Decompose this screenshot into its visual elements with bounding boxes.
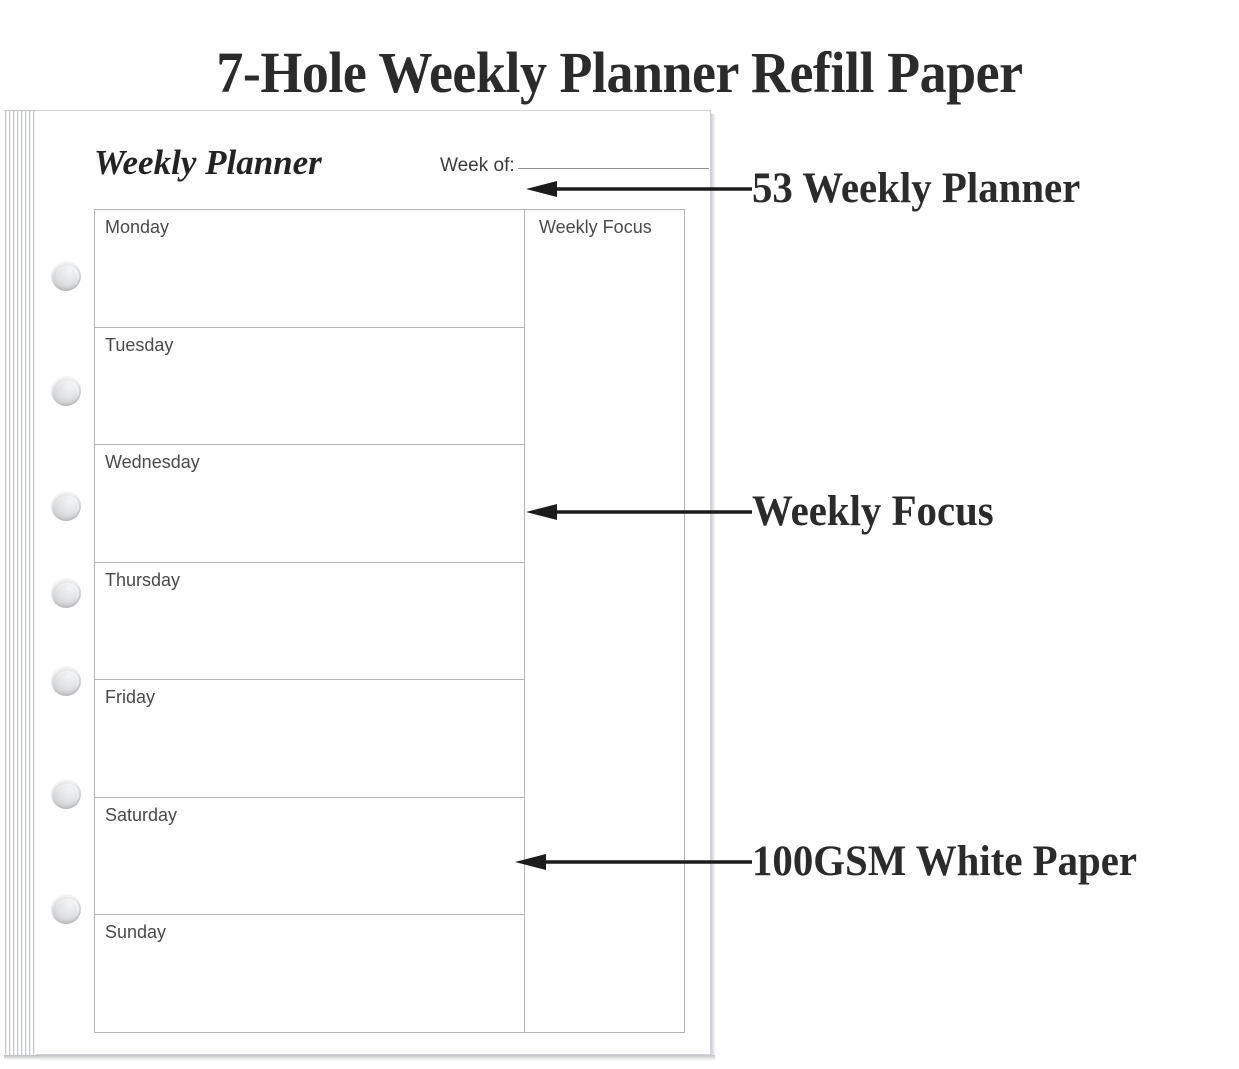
punch-hole (51, 491, 81, 521)
planner-page: Weekly Planner Week of: Monday Tuesday W… (36, 110, 711, 1055)
planner-grid: Monday Tuesday Wednesday Thursday Friday… (94, 209, 685, 1033)
day-row-saturday[interactable]: Saturday (95, 798, 524, 916)
left-arrow-icon (524, 177, 752, 201)
punch-hole (51, 779, 81, 809)
day-label: Friday (105, 687, 155, 707)
day-label: Tuesday (105, 335, 173, 355)
punch-hole (51, 578, 81, 608)
page-title: 7-Hole Weekly Planner Refill Paper (43, 41, 1195, 105)
page-shadow-right (711, 114, 716, 1059)
annotation-label: 100GSM White Paper (752, 838, 1137, 886)
left-arrow-icon (513, 850, 752, 874)
day-row-sunday[interactable]: Sunday (95, 915, 524, 1032)
week-of-label: Week of: (440, 155, 515, 177)
left-arrow-icon (524, 500, 752, 524)
day-row-friday[interactable]: Friday (95, 680, 524, 798)
day-row-tuesday[interactable]: Tuesday (95, 328, 524, 446)
punch-hole (51, 261, 81, 291)
day-label: Wednesday (105, 452, 200, 472)
day-row-monday[interactable]: Monday (95, 210, 524, 328)
paper-stack-shadow (4, 1055, 40, 1060)
day-row-thursday[interactable]: Thursday (95, 563, 524, 681)
punch-hole (51, 894, 81, 924)
day-label: Thursday (105, 570, 180, 590)
day-label: Sunday (105, 922, 166, 942)
day-label: Monday (105, 217, 169, 237)
punch-hole (51, 666, 81, 696)
punch-hole (51, 376, 81, 406)
paper-stack (4, 110, 37, 1060)
annotation-weekly-focus: Weekly Focus (524, 488, 1006, 536)
day-label: Saturday (105, 805, 177, 825)
annotation-paper-weight: 100GSM White Paper (513, 838, 1157, 886)
page-shadow-bottom (40, 1055, 715, 1061)
weekly-focus-column[interactable]: Weekly Focus (525, 210, 684, 1032)
annotation-label: 53 Weekly Planner (752, 165, 1080, 213)
day-row-wednesday[interactable]: Wednesday (95, 445, 524, 563)
planner-heading: Weekly Planner (94, 143, 322, 183)
annotation-planner-count: 53 Weekly Planner (524, 165, 1098, 213)
annotation-label: Weekly Focus (752, 488, 994, 536)
weekly-focus-label: Weekly Focus (539, 217, 652, 237)
days-column: Monday Tuesday Wednesday Thursday Friday… (95, 210, 525, 1032)
